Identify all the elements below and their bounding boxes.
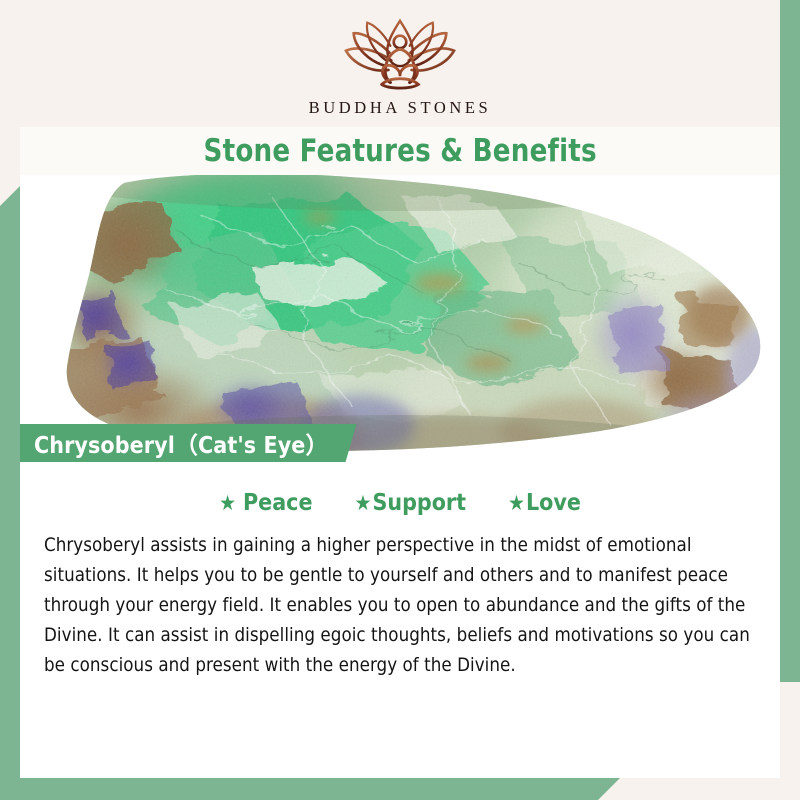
star-icon: ★ [219, 493, 236, 514]
stone-image-section: Chrysoberyl（Cat's Eye） [20, 175, 780, 472]
frame-bar-left [0, 186, 20, 778]
star-icon: ★ [508, 493, 525, 514]
keyword-peace: ★Peace [219, 490, 312, 516]
keyword-love: ★Love [508, 490, 581, 516]
stone-name-banner: Chrysoberyl（Cat's Eye） [20, 424, 357, 462]
stone-description: Chrysoberyl assists in gaining a higher … [38, 531, 762, 681]
keyword-label: Support [372, 490, 466, 516]
info-card: BUDDHA STONES Stone Features & Benefits [20, 0, 780, 778]
brand-logo: BUDDHA STONES [20, 14, 780, 118]
title-band: Stone Features & Benefits [20, 127, 780, 175]
keyword-label: Love [526, 490, 581, 516]
star-icon: ★ [354, 493, 371, 514]
benefit-keywords: ★Peace ★Support ★Love [38, 490, 762, 516]
frame-bar-right [780, 22, 800, 682]
card-content: ★Peace ★Support ★Love Chrysoberyl assist… [20, 472, 780, 778]
card-header: BUDDHA STONES Stone Features & Benefits [20, 0, 780, 175]
page-title: Stone Features & Benefits [203, 133, 596, 169]
frame-bar-bottom [0, 778, 620, 800]
brand-name: BUDDHA STONES [309, 98, 492, 118]
keyword-label: Peace [243, 490, 312, 516]
stone-name-label: Chrysoberyl（Cat's Eye） [34, 426, 329, 460]
lotus-meditation-icon [325, 14, 475, 96]
keyword-support: ★Support [354, 490, 466, 516]
